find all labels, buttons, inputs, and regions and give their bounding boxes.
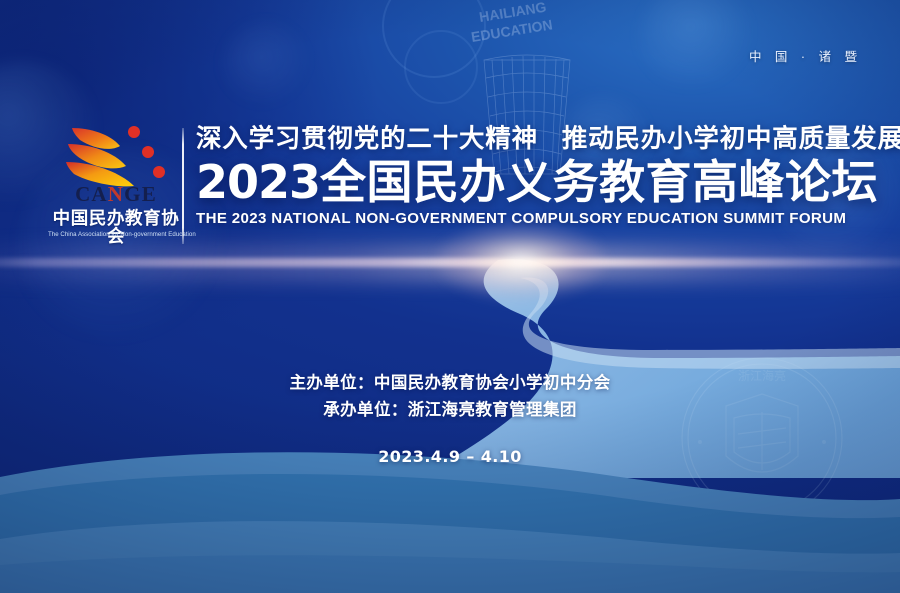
vignette-overlay — [0, 0, 900, 593]
event-banner: HAILIANG EDUCATION — [0, 0, 900, 593]
cange-acronym-red: N — [108, 182, 124, 206]
title-year: 2023 — [196, 155, 320, 209]
location-label: 中 国 · 诸 暨 — [749, 46, 862, 65]
association-name-cn: 中国民办教育协会 — [48, 210, 184, 245]
slogan-line: 深入学习贯彻党的二十大精神推动民办小学初中高质量发展 — [196, 126, 866, 154]
vertical-divider — [182, 128, 184, 244]
title-text: 全国民办义务教育高峰论坛 — [320, 156, 878, 208]
main-title: 2023全国民办义务教育高峰论坛 — [196, 159, 866, 206]
association-name-en: The China Association for Non-government… — [48, 232, 184, 238]
cange-acronym-post: GE — [124, 182, 157, 206]
cange-logo-mark — [64, 122, 168, 188]
cange-logo: CANGE 中国民办教育协会 The China Association for… — [48, 122, 184, 246]
cange-acronym-pre: CA — [75, 182, 108, 206]
slogan-part1: 深入学习贯彻党的二十大精神 — [196, 125, 538, 153]
main-title-english: THE 2023 NATIONAL NON-GOVERNMENT COMPULS… — [196, 211, 866, 226]
slogan-part2: 推动民办小学初中高质量发展 — [562, 125, 900, 153]
event-date: 2023.4.9 – 4.10 — [0, 447, 900, 466]
headline-block: 深入学习贯彻党的二十大精神推动民办小学初中高质量发展 2023全国民办义务教育高… — [196, 126, 866, 227]
cange-acronym: CANGE — [48, 184, 184, 205]
